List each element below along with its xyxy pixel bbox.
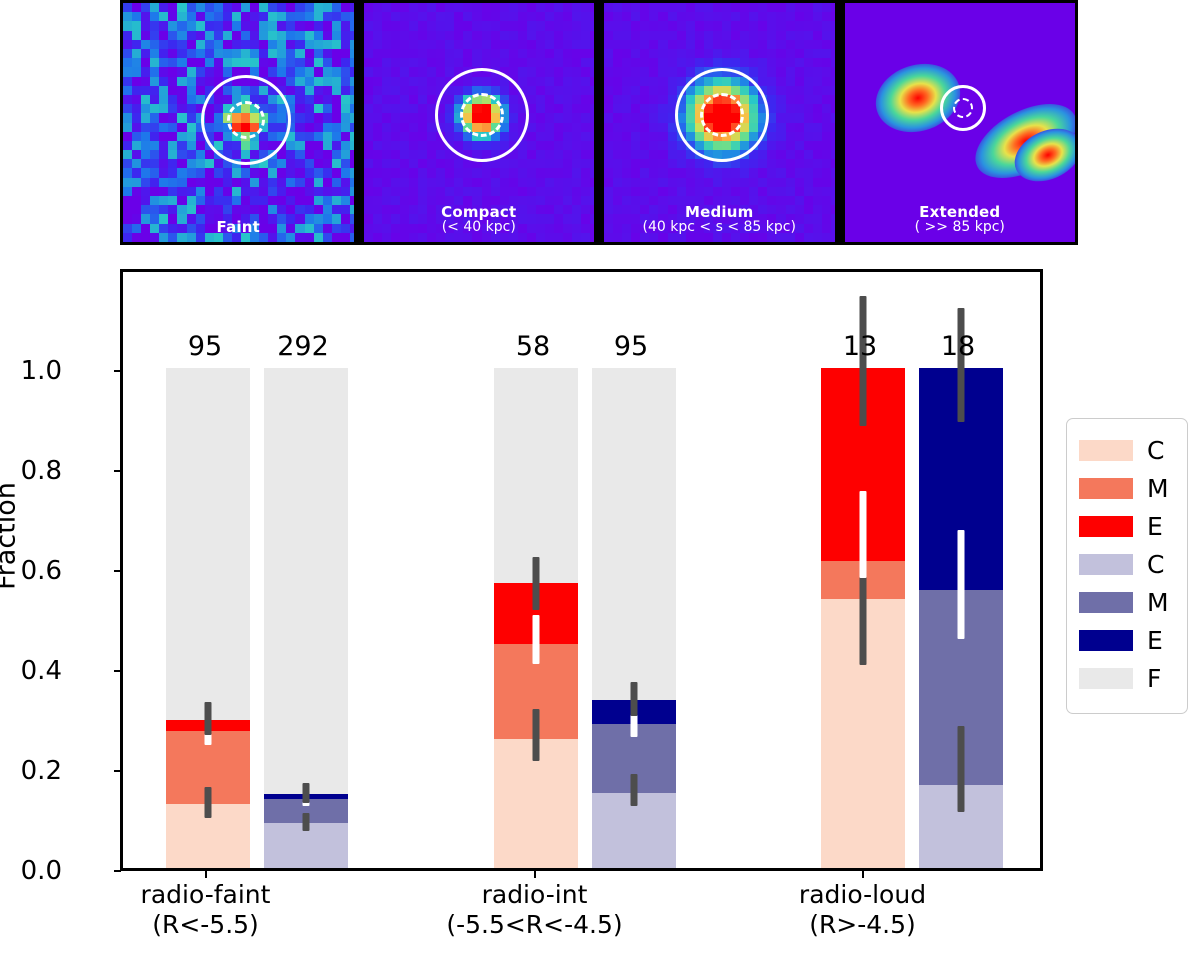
y-tick-mark — [114, 370, 121, 372]
bar-count-label: 95 — [614, 331, 648, 362]
error-bar — [958, 726, 965, 812]
beam-circle — [700, 93, 744, 137]
x-tick-mark — [534, 871, 536, 878]
y-tick-mark — [114, 570, 121, 572]
x-tick-label-radio-faint: radio-faint(R<-5.5) — [141, 880, 271, 939]
legend-item-4: M — [1067, 583, 1187, 621]
y-tick-mark — [114, 670, 121, 672]
error-bar — [958, 308, 965, 422]
radio-morphology-panel-strip: FaintCompact(< 40 kpc)Medium(40 kpc < s … — [120, 0, 1078, 245]
legend-label: E — [1147, 514, 1163, 539]
beam-circle — [227, 101, 265, 139]
bar-segment-F — [592, 368, 676, 700]
panel-caption-range: (< 40 kpc) — [364, 220, 595, 236]
x-tick-mark — [205, 871, 207, 878]
panel-caption-faint: Faint — [123, 219, 354, 236]
sky-panel-extended: Extended( >> 85 kpc) — [842, 0, 1079, 245]
plot-inner — [123, 272, 1040, 868]
error-bar — [533, 615, 540, 664]
legend-item-1: M — [1067, 469, 1187, 507]
y-tick-label: 0.2 — [21, 756, 62, 786]
error-bar — [533, 709, 540, 762]
panel-caption-name: Faint — [123, 219, 354, 236]
legend-label: E — [1147, 628, 1163, 653]
legend-label: C — [1147, 438, 1164, 463]
legend-item-3: C — [1067, 545, 1187, 583]
panel-caption-range: (40 kpc < s < 85 kpc) — [604, 220, 835, 236]
legend-swatch-F — [1079, 668, 1133, 689]
stacked-bar-chart: Fraction CMECMEF 0.00.20.40.60.81.095292… — [0, 246, 1200, 956]
bar-count-label: 13 — [843, 331, 877, 362]
x-tick-label-name: radio-loud — [799, 880, 926, 910]
legend-swatch-C — [1079, 440, 1133, 461]
legend-label: M — [1147, 590, 1169, 615]
sky-panel-compact: Compact(< 40 kpc) — [361, 0, 598, 245]
legend-item-0: C — [1067, 431, 1187, 469]
beam-circle — [460, 93, 504, 137]
bar-count-label: 95 — [188, 331, 222, 362]
panel-caption-name: Medium — [604, 204, 835, 221]
error-bar — [533, 557, 540, 610]
panel-caption-name: Extended — [845, 204, 1076, 221]
panel-caption-compact: Compact(< 40 kpc) — [364, 204, 595, 236]
bar-segment-F — [264, 368, 348, 794]
error-bar — [303, 783, 310, 803]
legend-label: F — [1147, 666, 1161, 691]
x-tick-label-range: (R>-4.5) — [799, 910, 926, 940]
x-tick-mark — [862, 871, 864, 878]
y-tick-label: 0.6 — [21, 556, 62, 586]
x-tick-label-name: radio-faint — [141, 880, 271, 910]
legend-item-2: E — [1067, 507, 1187, 545]
error-bar — [303, 813, 310, 831]
y-tick-label: 0.4 — [21, 656, 62, 686]
y-axis-label: Fraction — [0, 482, 22, 590]
error-bar — [958, 530, 965, 639]
bar-count-label: 58 — [516, 331, 550, 362]
sky-panel-medium: Medium(40 kpc < s < 85 kpc) — [601, 0, 838, 245]
legend: CMECMEF — [1066, 418, 1188, 714]
legend-item-5: E — [1067, 621, 1187, 659]
bar-segment-F — [494, 368, 578, 583]
legend-label: M — [1147, 476, 1169, 501]
y-tick-label: 0.0 — [21, 856, 62, 886]
y-tick-label: 0.8 — [21, 456, 62, 486]
bar-count-label: 18 — [941, 331, 975, 362]
legend-swatch-M — [1079, 478, 1133, 499]
error-bar — [205, 787, 212, 819]
bar-segment-F — [166, 368, 250, 720]
legend-swatch-E — [1079, 630, 1133, 651]
bar-count-label: 292 — [277, 331, 329, 362]
panel-caption-extended: Extended( >> 85 kpc) — [845, 204, 1076, 236]
error-bar — [860, 491, 867, 579]
y-tick-mark — [114, 870, 121, 872]
panel-caption-name: Compact — [364, 204, 595, 221]
sky-panel-faint: Faint — [120, 0, 357, 245]
y-tick-mark — [114, 470, 121, 472]
legend-item-6: F — [1067, 659, 1187, 697]
legend-swatch-M — [1079, 592, 1133, 613]
panel-caption-range: ( >> 85 kpc) — [845, 220, 1076, 236]
error-bar — [631, 682, 638, 716]
plot-area — [120, 269, 1043, 871]
x-tick-label-range: (R<-5.5) — [141, 910, 271, 940]
x-tick-label-radio-loud: radio-loud(R>-4.5) — [799, 880, 926, 939]
y-tick-mark — [114, 770, 121, 772]
y-tick-label: 1.0 — [21, 356, 62, 386]
x-tick-label-name: radio-int — [446, 880, 622, 910]
panel-caption-medium: Medium(40 kpc < s < 85 kpc) — [604, 204, 835, 236]
beam-circle — [953, 98, 973, 118]
legend-label: C — [1147, 552, 1164, 577]
error-bar — [205, 702, 212, 735]
error-bar — [631, 774, 638, 806]
x-tick-label-radio-int: radio-int(-5.5<R<-4.5) — [446, 880, 622, 939]
legend-swatch-C — [1079, 554, 1133, 575]
x-tick-label-range: (-5.5<R<-4.5) — [446, 910, 622, 940]
legend-swatch-E — [1079, 516, 1133, 537]
